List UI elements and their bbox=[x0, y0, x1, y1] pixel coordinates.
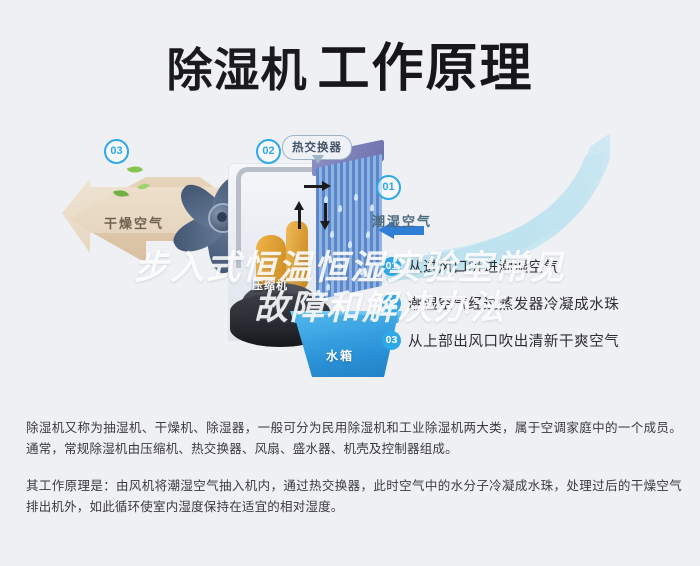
flow-arrow-up-icon bbox=[294, 201, 304, 210]
step-number-badge: 01 bbox=[382, 257, 401, 276]
step-text: 从进风口吸进潮湿空气 bbox=[408, 256, 559, 277]
page-title: 除湿机工作原理 bbox=[0, 26, 700, 101]
flow-arrow-stem bbox=[324, 203, 327, 223]
diagram-badge-03: 03 bbox=[104, 139, 129, 164]
list-item: 03 从上部出风口吹出清新干爽空气 bbox=[382, 330, 682, 351]
diagram-badge-02: 02 bbox=[256, 139, 281, 164]
diagram-badge-01: 01 bbox=[376, 175, 401, 200]
paragraph-definition: 除湿机又称为抽湿机、干燥机、除湿器，一般可分为民用除湿机和工业除湿机两大类，属于… bbox=[26, 418, 682, 460]
dry-air-label: 干燥空气 bbox=[104, 213, 164, 232]
compressor-cylinder bbox=[286, 221, 308, 291]
step-text: 潮湿空气经过蒸发器冷凝成水珠 bbox=[408, 293, 619, 314]
flow-arrow-right-icon bbox=[322, 181, 331, 191]
water-tank-label: 水箱 bbox=[326, 347, 354, 364]
leaf-icon bbox=[127, 162, 144, 177]
infographic-page: 除湿机工作原理 干燥空气 压缩机 bbox=[0, 0, 700, 566]
step-list: 01 从进风口吸进潮湿空气 02 潮湿空气经过蒸发器冷凝成水珠 03 从上部出风… bbox=[382, 256, 682, 367]
compressor-label: 压缩机 bbox=[252, 277, 288, 293]
title-part-product: 除湿机 bbox=[166, 44, 307, 96]
callout-tail bbox=[312, 155, 324, 164]
humid-air-label: 潮湿空气 bbox=[372, 211, 432, 230]
flow-arrow-stem bbox=[298, 209, 301, 229]
condensation-droplets bbox=[318, 176, 382, 298]
flow-arrow-down-icon bbox=[320, 221, 330, 230]
step-text: 从上部出风口吹出清新干爽空气 bbox=[408, 330, 619, 351]
step-number-badge: 03 bbox=[382, 331, 401, 350]
body-copy: 除湿机又称为抽湿机、干燥机、除湿器，一般可分为民用除湿机和工业除湿机两大类，属于… bbox=[26, 418, 682, 534]
step-number-badge: 02 bbox=[382, 294, 401, 313]
title-part-topic: 工作原理 bbox=[317, 40, 533, 98]
flow-arrow-stem bbox=[304, 185, 322, 188]
list-item: 02 潮湿空气经过蒸发器冷凝成水珠 bbox=[382, 293, 682, 314]
paragraph-principle: 其工作原理是：由风机将潮湿空气抽入机内，通过热交换器，此时空气中的水分子冷凝成水… bbox=[26, 476, 682, 518]
list-item: 01 从进风口吸进潮湿空气 bbox=[382, 256, 682, 277]
